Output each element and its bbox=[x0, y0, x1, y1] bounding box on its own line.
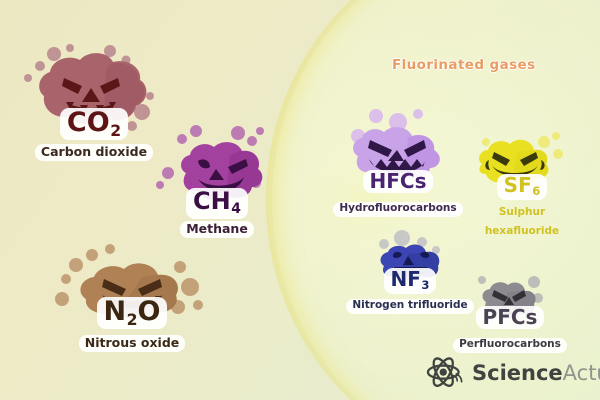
n2o-cloud-icon bbox=[52, 245, 212, 341]
sciencectu-logo[interactable]: ScienceActu bbox=[424, 352, 600, 394]
logo-text-bold: Science bbox=[472, 361, 563, 385]
hfcs-cloud-icon bbox=[322, 110, 474, 194]
fluorinated-gases-heading: Fluorinated gases bbox=[392, 57, 536, 73]
logo-text-light: Actu bbox=[563, 361, 600, 385]
ch4-cloud-icon bbox=[152, 125, 282, 217]
co2-name: Carbon dioxide bbox=[14, 141, 174, 161]
logo-wordmark: ScienceActu bbox=[472, 363, 600, 384]
atom-icon bbox=[424, 352, 466, 394]
pfcs-cloud-icon bbox=[442, 272, 578, 330]
co2-cloud-icon bbox=[14, 40, 174, 140]
ch4-name: Methane bbox=[152, 218, 282, 238]
sf6-cloud-icon bbox=[456, 130, 588, 200]
infographic-canvas: Fluorinated gases bbox=[0, 0, 600, 400]
